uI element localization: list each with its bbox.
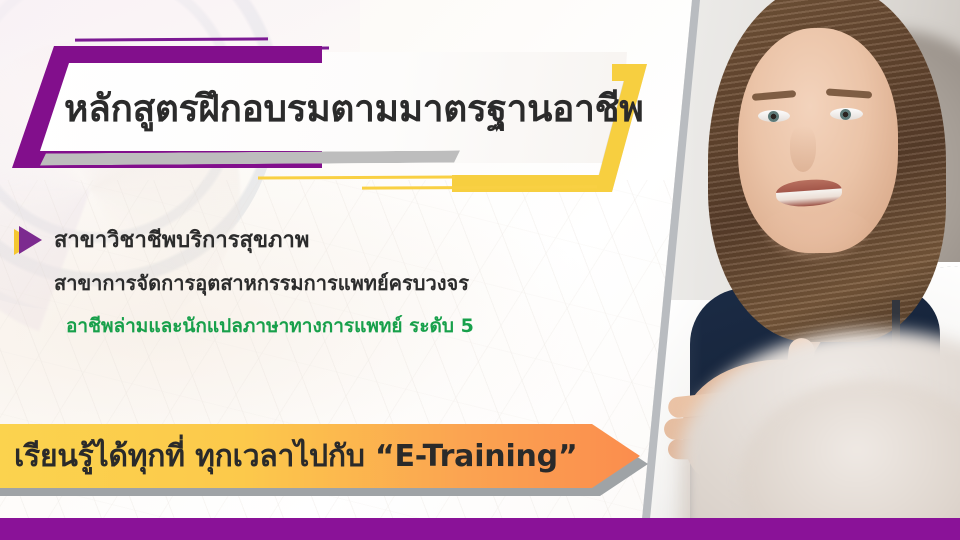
course-details-list: สาขาวิชาชีพบริการสุขภาพ สาขาการจัดการอุต… [14, 222, 614, 341]
promo-banner: หลักสูตรฝึกอบรมตามมาตรฐานอาชีพ สาขาวิชาช… [0, 0, 960, 540]
footer-bar [0, 518, 960, 540]
list-item: สาขาวิชาชีพบริการสุขภาพ [14, 222, 614, 257]
play-triangle-fill-icon [19, 226, 42, 254]
course-line-1: สาขาวิชาชีพบริการสุขภาพ [54, 222, 309, 257]
course-line-3: อาชีพล่ามและนักแปลภาษาทางการแพทย์ ระดับ … [66, 311, 614, 341]
callout-text: เรียนรู้ได้ทุกที่ ทุกเวลาไปกับ “E-Traini… [14, 424, 614, 488]
page-title: หลักสูตรฝึกอบรมตามมาตรฐานอาชีพ [64, 74, 604, 144]
course-line-2: สาขาการจัดการอุตสาหกรรมการแพทย์ครบวงจร [54, 267, 614, 299]
play-triangle-icon [14, 225, 44, 255]
